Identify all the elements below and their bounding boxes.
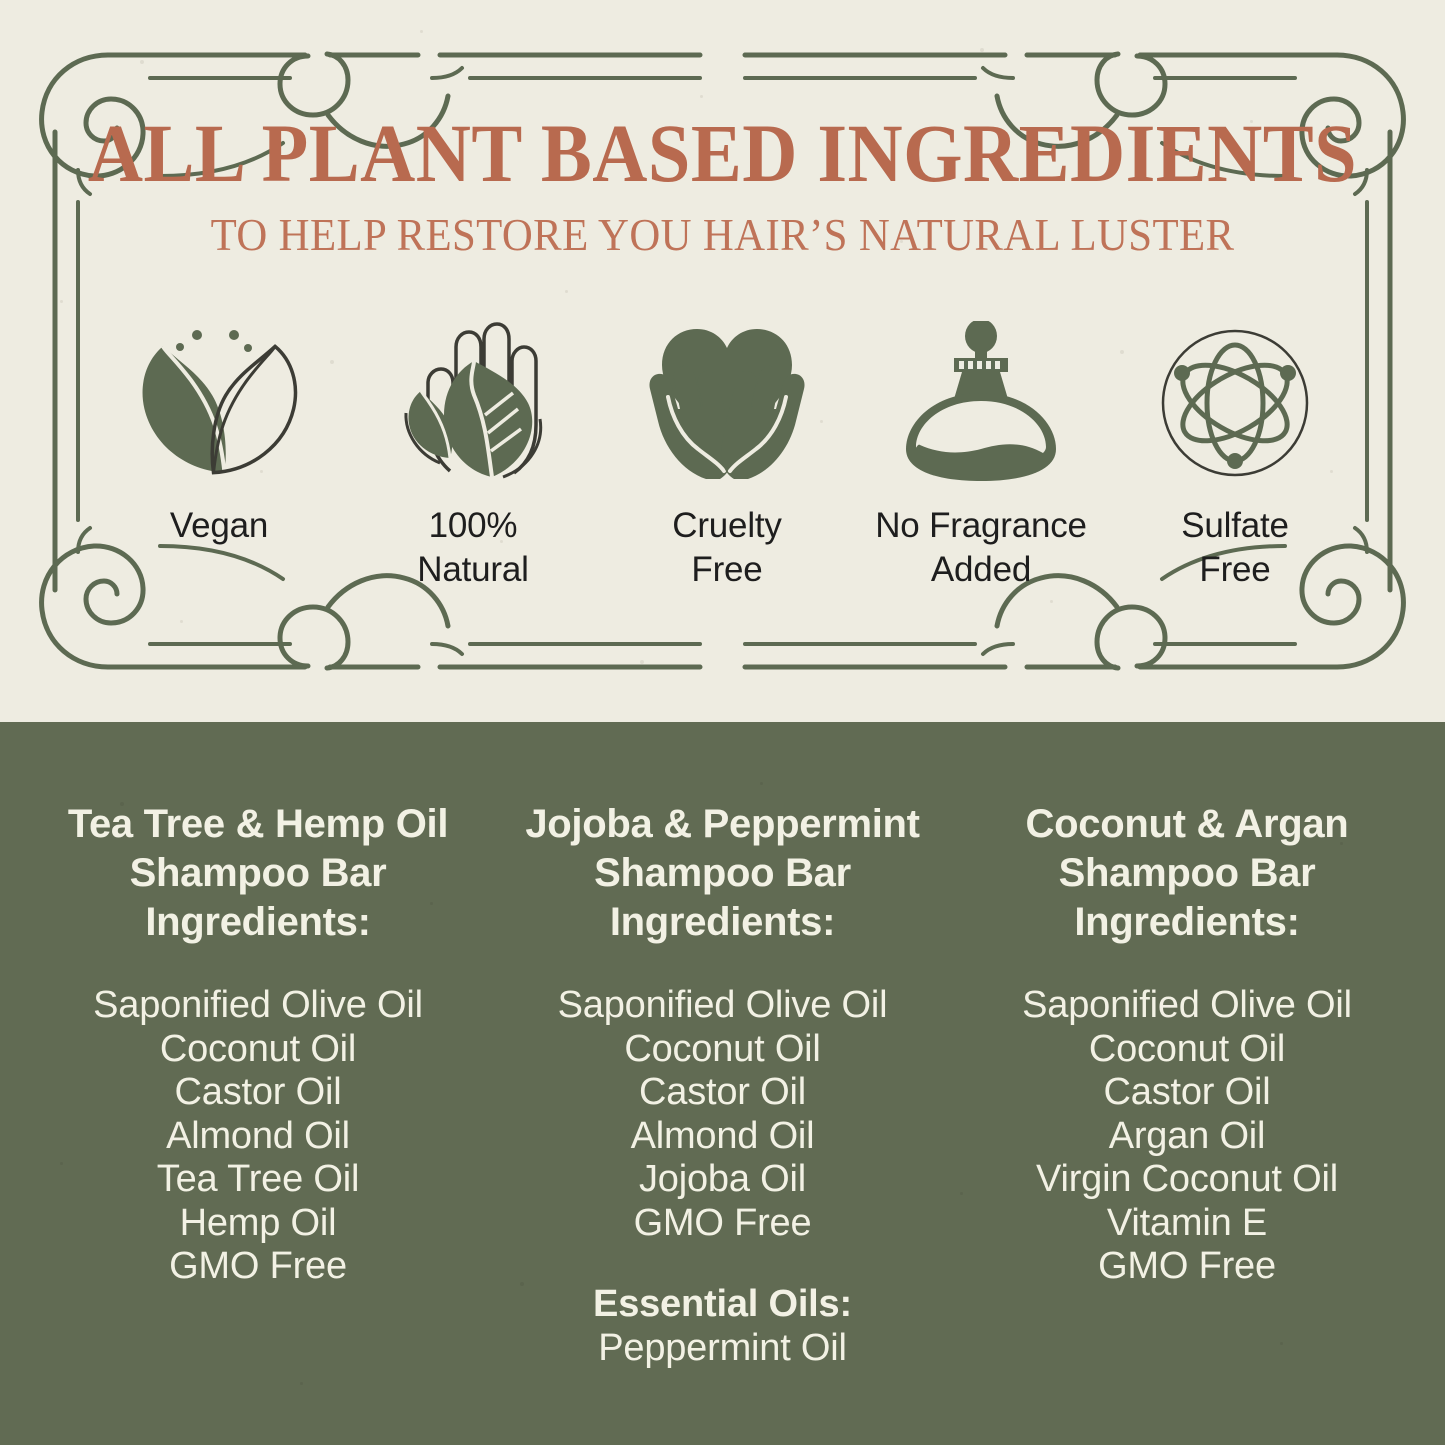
badge-label: Sulfate Free (1181, 504, 1289, 592)
badge-no-fragrance: No Fragrance Added (854, 318, 1108, 592)
page-subtitle: TO HELP RESTORE YOU HAIR’S NATURAL LUSTE… (51, 212, 1395, 258)
ingredient-column-coconut-argan: Coconut & Argan Shampoo Bar Ingredients:… (967, 800, 1407, 1371)
badge-sulfate-free: Sulfate Free (1108, 318, 1362, 592)
column-ingredient-list: Saponified Olive Oil Coconut Oil Castor … (967, 984, 1407, 1289)
badge-vegan: Vegan (92, 318, 346, 548)
column-ingredient-list: Saponified Olive Oil Coconut Oil Castor … (503, 984, 943, 1245)
page-title: ALL PLANT BASED INGREDIENTS (58, 112, 1387, 195)
badge-label: 100% Natural (417, 504, 528, 592)
atom-icon (1150, 318, 1320, 488)
feature-badge-row: Vegan (92, 318, 1362, 592)
badge-label: Cruelty Free (672, 504, 781, 592)
badge-natural: 100% Natural (346, 318, 600, 592)
column-title: Coconut & Argan Shampoo Bar Ingredients: (967, 800, 1407, 946)
leaves-icon (134, 318, 304, 488)
badge-label: No Fragrance Added (875, 504, 1087, 592)
hand-leaves-icon (388, 318, 558, 488)
essential-oils-list: Peppermint Oil (503, 1327, 943, 1371)
badge-cruelty-free: Cruelty Free (600, 318, 854, 592)
column-title: Tea Tree & Hemp Oil Shampoo Bar Ingredie… (38, 800, 478, 946)
perfume-bottle-icon (896, 318, 1066, 488)
heart-in-hands-icon (642, 318, 812, 488)
ingredients-panel: Tea Tree & Hemp Oil Shampoo Bar Ingredie… (0, 722, 1445, 1445)
ingredient-columns: Tea Tree & Hemp Oil Shampoo Bar Ingredie… (38, 800, 1407, 1371)
column-ingredient-list: Saponified Olive Oil Coconut Oil Castor … (38, 984, 478, 1289)
ingredients-infographic: ALL PLANT BASED INGREDIENTS TO HELP REST… (0, 0, 1445, 1445)
ingredient-column-tea-tree-hemp: Tea Tree & Hemp Oil Shampoo Bar Ingredie… (38, 800, 478, 1371)
plant-based-header-panel: ALL PLANT BASED INGREDIENTS TO HELP REST… (0, 0, 1445, 722)
essential-oils-title: Essential Oils: (503, 1283, 943, 1327)
ingredient-column-jojoba-peppermint: Jojoba & Peppermint Shampoo Bar Ingredie… (503, 800, 943, 1371)
badge-label: Vegan (170, 504, 268, 548)
column-title: Jojoba & Peppermint Shampoo Bar Ingredie… (503, 800, 943, 946)
